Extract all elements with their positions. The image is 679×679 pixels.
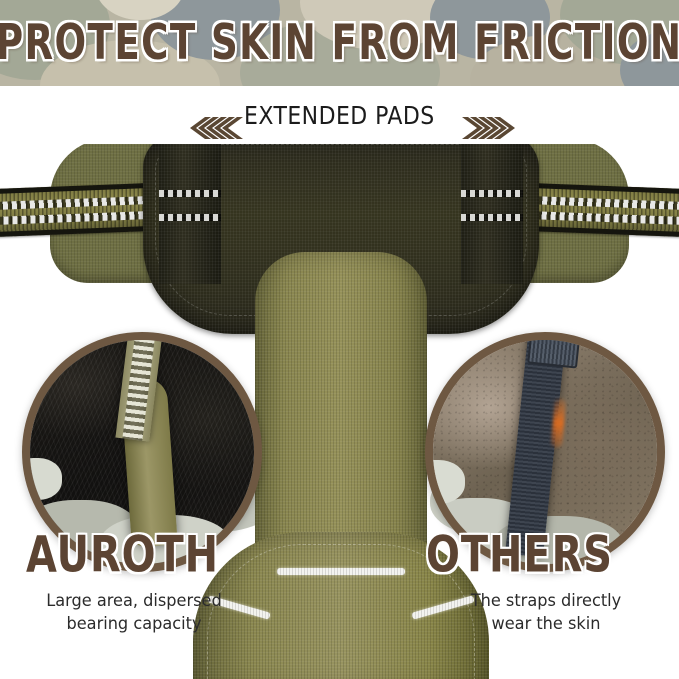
reflective-stripe — [277, 568, 405, 575]
brand-label-auroth: AUROTH — [26, 526, 219, 584]
product-photo-area: AUROTH Large area, dispersed bearing cap… — [0, 132, 679, 679]
header-title-container: PROTECT SKIN FROM FRICTION — [0, 0, 679, 86]
subtitle-text: EXTENDED PADS — [235, 101, 443, 130]
reflective-stripe — [159, 190, 221, 197]
page-title: PROTECT SKIN FROM FRICTION — [0, 15, 679, 71]
subtitle-row: EXTENDED PADS — [0, 86, 679, 144]
reflective-stripe — [461, 190, 523, 197]
caption-others: The straps directly wear the skin — [426, 590, 665, 636]
brand-label-others: OTHERS — [426, 526, 613, 584]
product-infographic: PROTECT SKIN FROM FRICTION EXTENDED PADS — [0, 0, 679, 679]
caption-auroth: Large area, dispersed bearing capacity — [14, 590, 253, 636]
strap-buckle — [527, 332, 581, 369]
pad-strap-left — [159, 134, 221, 284]
pad-strap-right — [461, 134, 523, 284]
reflective-stripe — [159, 214, 221, 221]
reflective-stripe — [461, 214, 523, 221]
